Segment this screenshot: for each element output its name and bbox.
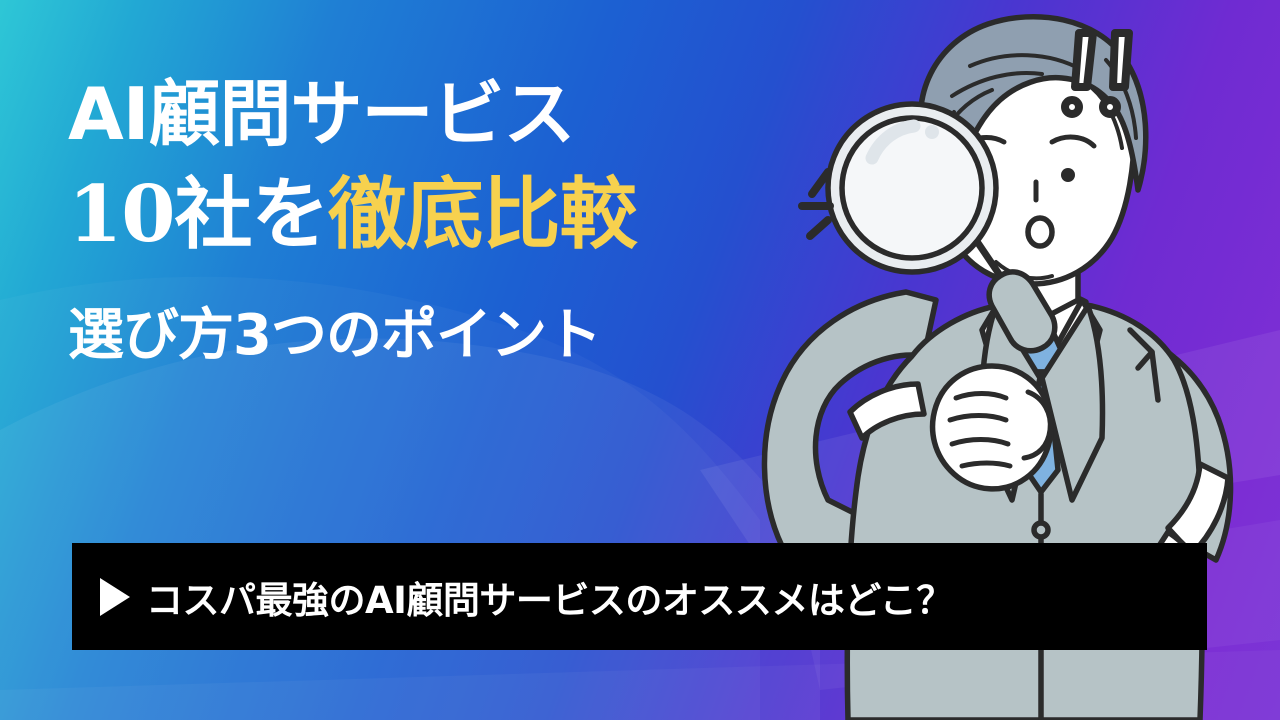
cta-banner[interactable]: コスパ最強のAI顧問サービスのオススメはどこ？ [72, 543, 1207, 650]
cta-banner-text: コスパ最強のAI顧問サービスのオススメはどこ？ [146, 570, 953, 624]
headline-line-2: 10社を徹底比較 [68, 176, 828, 268]
headline-line-2-plain: 10社を [68, 169, 329, 260]
headline-line-3: 選び方3つのポイント [68, 308, 828, 376]
headline-block: AI顧問サービス 10社を徹底比較 選び方3つのポイント [68, 78, 828, 376]
headline-line-1: AI顧問サービス [68, 78, 828, 164]
double-exclamation-icon [1055, 25, 1165, 125]
play-triangle-icon [100, 578, 130, 616]
headline-line-2-accent: 徹底比較 [329, 169, 637, 260]
thumbnail-canvas: AI顧問サービス 10社を徹底比較 選び方3つのポイント コスパ最強のAI顧問サ… [0, 0, 1280, 720]
